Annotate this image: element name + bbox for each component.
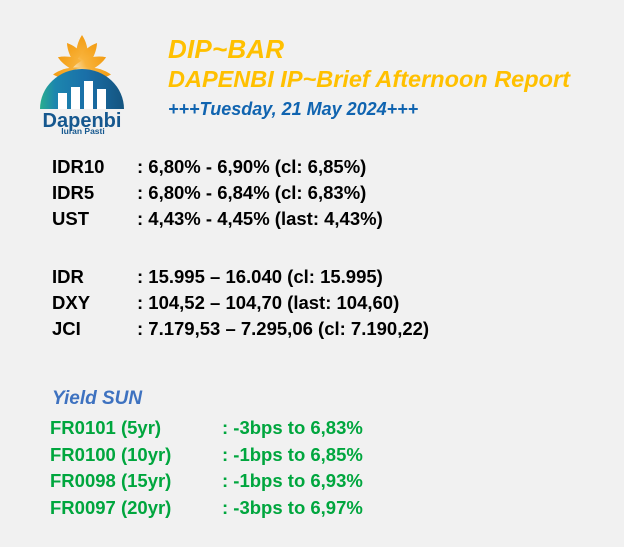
data-row: IDR : 15.995 – 16.040 (cl: 15.995) (52, 266, 429, 292)
report-title-sub: DAPENBI IP~Brief Afternoon Report (168, 64, 570, 95)
data-row: UST : 4,43% - 4,45% (last: 4,43%) (52, 208, 383, 234)
rates-block: IDR10 : 6,80% - 6,90% (cl: 6,85%) IDR5 :… (52, 156, 383, 234)
yield-value: : -3bps to 6,97% (222, 497, 363, 519)
yield-label: FR0101 (5yr) (50, 417, 222, 439)
row-value: : 15.995 – 16.040 (cl: 15.995) (137, 266, 383, 288)
row-label: IDR (52, 266, 137, 288)
yield-row: FR0100 (10yr) : -1bps to 6,85% (50, 444, 363, 471)
yield-row: FR0098 (15yr) : -1bps to 6,93% (50, 470, 363, 497)
row-label: JCI (52, 318, 137, 340)
row-value: : 104,52 – 104,70 (last: 104,60) (137, 292, 399, 314)
yield-label: FR0097 (20yr) (50, 497, 222, 519)
data-row: IDR10 : 6,80% - 6,90% (cl: 6,85%) (52, 156, 383, 182)
yield-row: FR0097 (20yr) : -3bps to 6,97% (50, 497, 363, 524)
yield-value: : -1bps to 6,93% (222, 470, 363, 492)
header-titles: DIP~BAR DAPENBI IP~Brief Afternoon Repor… (168, 34, 570, 122)
yield-row: FR0101 (5yr) : -3bps to 6,83% (50, 417, 363, 444)
yield-label: FR0100 (10yr) (50, 444, 222, 466)
dapenbi-sun-dome-logo: Dapenbi Iuran Pasti (18, 27, 146, 135)
row-label: UST (52, 208, 137, 230)
report-title-main: DIP~BAR (168, 34, 570, 64)
logo-brand-tagline: Iuran Pasti (61, 126, 104, 135)
data-row: DXY : 104,52 – 104,70 (last: 104,60) (52, 292, 429, 318)
row-label: IDR10 (52, 156, 137, 178)
row-value: : 6,80% - 6,84% (cl: 6,83%) (137, 182, 366, 204)
market-block: IDR : 15.995 – 16.040 (cl: 15.995) DXY :… (52, 266, 429, 344)
row-label: IDR5 (52, 182, 137, 204)
data-row: IDR5 : 6,80% - 6,84% (cl: 6,83%) (52, 182, 383, 208)
row-label: DXY (52, 292, 137, 314)
row-value: : 4,43% - 4,45% (last: 4,43%) (137, 208, 383, 230)
report-date: +++Tuesday, 21 May 2024+++ (168, 96, 570, 122)
yield-label: FR0098 (15yr) (50, 470, 222, 492)
data-row: JCI : 7.179,53 – 7.295,06 (cl: 7.190,22) (52, 318, 429, 344)
yield-sun-title: Yield SUN (50, 386, 363, 412)
yield-value: : -3bps to 6,83% (222, 417, 363, 439)
yield-sun-section: Yield SUN FR0101 (5yr) : -3bps to 6,83% … (50, 386, 363, 523)
row-value: : 7.179,53 – 7.295,06 (cl: 7.190,22) (137, 318, 429, 340)
yield-value: : -1bps to 6,85% (222, 444, 363, 466)
report-page: Dapenbi Iuran Pasti DIP~BAR DAPENBI IP~B… (0, 0, 624, 547)
logo-dome (40, 69, 124, 111)
report-header: Dapenbi Iuran Pasti DIP~BAR DAPENBI IP~B… (0, 0, 624, 140)
row-value: : 6,80% - 6,90% (cl: 6,85%) (137, 156, 366, 178)
